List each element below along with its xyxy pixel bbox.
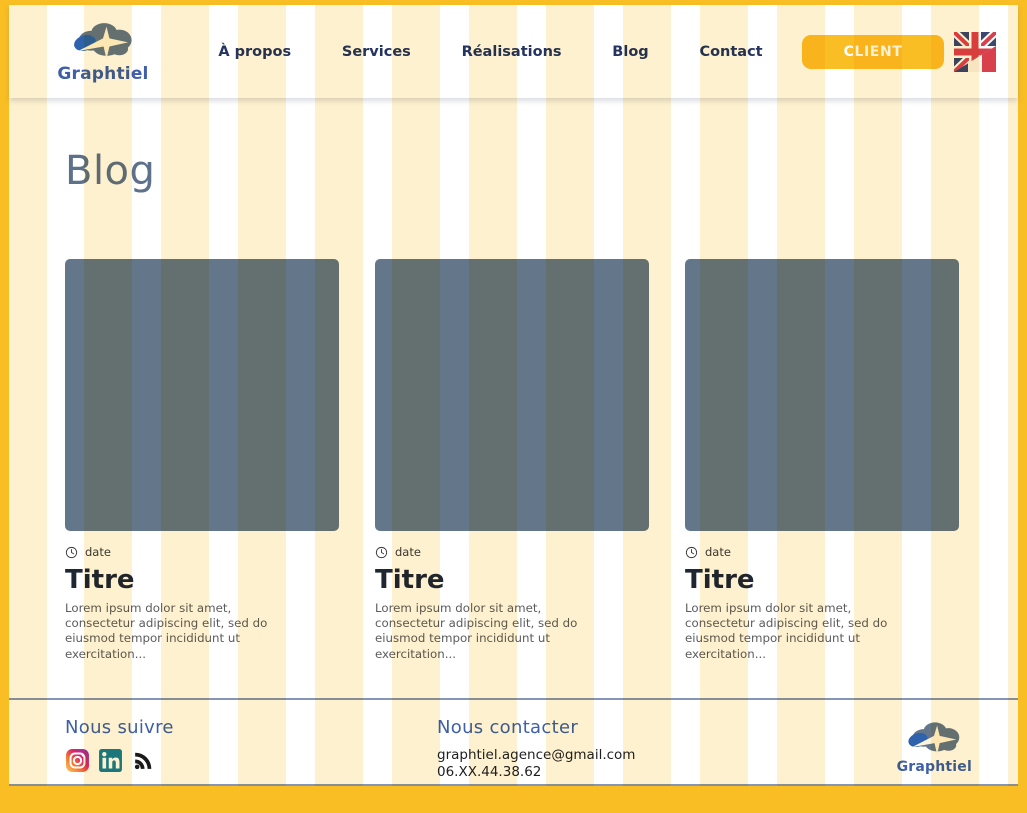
primary-navigation: À propos Services Réalisations Blog Cont… bbox=[167, 44, 802, 60]
blog-card-date-row: date bbox=[685, 544, 959, 560]
blog-card-title: Titre bbox=[375, 567, 649, 594]
clock-icon bbox=[685, 546, 698, 559]
nav-realisations[interactable]: Réalisations bbox=[462, 44, 562, 60]
blog-card[interactable]: date Titre Lorem ipsum dolor sit amet, c… bbox=[65, 259, 339, 662]
cloud-star-logo-icon bbox=[903, 720, 965, 760]
page-title: Blog bbox=[65, 148, 155, 194]
nav-a-propos[interactable]: À propos bbox=[218, 44, 291, 60]
blog-card[interactable]: date Titre Lorem ipsum dolor sit amet, c… bbox=[685, 259, 959, 662]
footer-contact-heading: Nous contacter bbox=[437, 717, 635, 738]
footer-contact-block: Nous contacter graphtiel.agence@gmail.co… bbox=[437, 717, 635, 781]
footer-follow-block: Nous suivre bbox=[65, 717, 174, 773]
blog-card-grid: date Titre Lorem ipsum dolor sit amet, c… bbox=[65, 259, 960, 662]
nav-contact[interactable]: Contact bbox=[699, 44, 762, 60]
blog-card-image bbox=[65, 259, 339, 531]
clock-icon bbox=[375, 546, 388, 559]
blog-card-date: date bbox=[85, 545, 111, 559]
blog-card-date: date bbox=[705, 545, 731, 559]
site-footer: Nous suivre bbox=[9, 698, 1018, 786]
header-logo-text: Graphtiel bbox=[57, 64, 148, 84]
blog-card-title: Titre bbox=[65, 567, 339, 594]
footer-logo-text: Graphtiel bbox=[897, 759, 972, 775]
social-links bbox=[65, 748, 174, 773]
blog-card-image bbox=[685, 259, 959, 531]
blog-card-excerpt: Lorem ipsum dolor sit amet, consectetur … bbox=[65, 601, 297, 661]
nav-services[interactable]: Services bbox=[342, 44, 411, 60]
footer-phone[interactable]: 06.XX.44.38.62 bbox=[437, 764, 635, 781]
language-switcher-button[interactable] bbox=[954, 32, 996, 72]
blog-card-date-row: date bbox=[375, 544, 649, 560]
cloud-star-logo-icon bbox=[68, 20, 138, 66]
clock-icon bbox=[65, 546, 78, 559]
instagram-icon[interactable] bbox=[65, 748, 90, 773]
footer-logo[interactable]: Graphtiel bbox=[897, 720, 972, 775]
blog-card-date-row: date bbox=[65, 544, 339, 560]
blog-card-title: Titre bbox=[685, 567, 959, 594]
footer-email[interactable]: graphtiel.agence@gmail.com bbox=[437, 747, 635, 764]
site-header: Graphtiel À propos Services Réalisations… bbox=[9, 5, 1018, 98]
blog-card-excerpt: Lorem ipsum dolor sit amet, consectetur … bbox=[685, 601, 917, 661]
blog-card-date: date bbox=[395, 545, 421, 559]
nav-blog[interactable]: Blog bbox=[612, 44, 648, 60]
blog-card[interactable]: date Titre Lorem ipsum dolor sit amet, c… bbox=[375, 259, 649, 662]
header-logo[interactable]: Graphtiel bbox=[39, 20, 167, 84]
blog-card-excerpt: Lorem ipsum dolor sit amet, consectetur … bbox=[375, 601, 607, 661]
uk-france-split-flag-icon bbox=[954, 32, 996, 72]
blog-card-image bbox=[375, 259, 649, 531]
client-button[interactable]: CLIENT bbox=[802, 35, 944, 69]
main-content: Blog date Titre Lorem ipsum dolor sit am… bbox=[9, 98, 1018, 698]
rss-icon[interactable] bbox=[131, 748, 156, 773]
footer-follow-heading: Nous suivre bbox=[65, 717, 174, 738]
linkedin-icon[interactable] bbox=[98, 748, 123, 773]
